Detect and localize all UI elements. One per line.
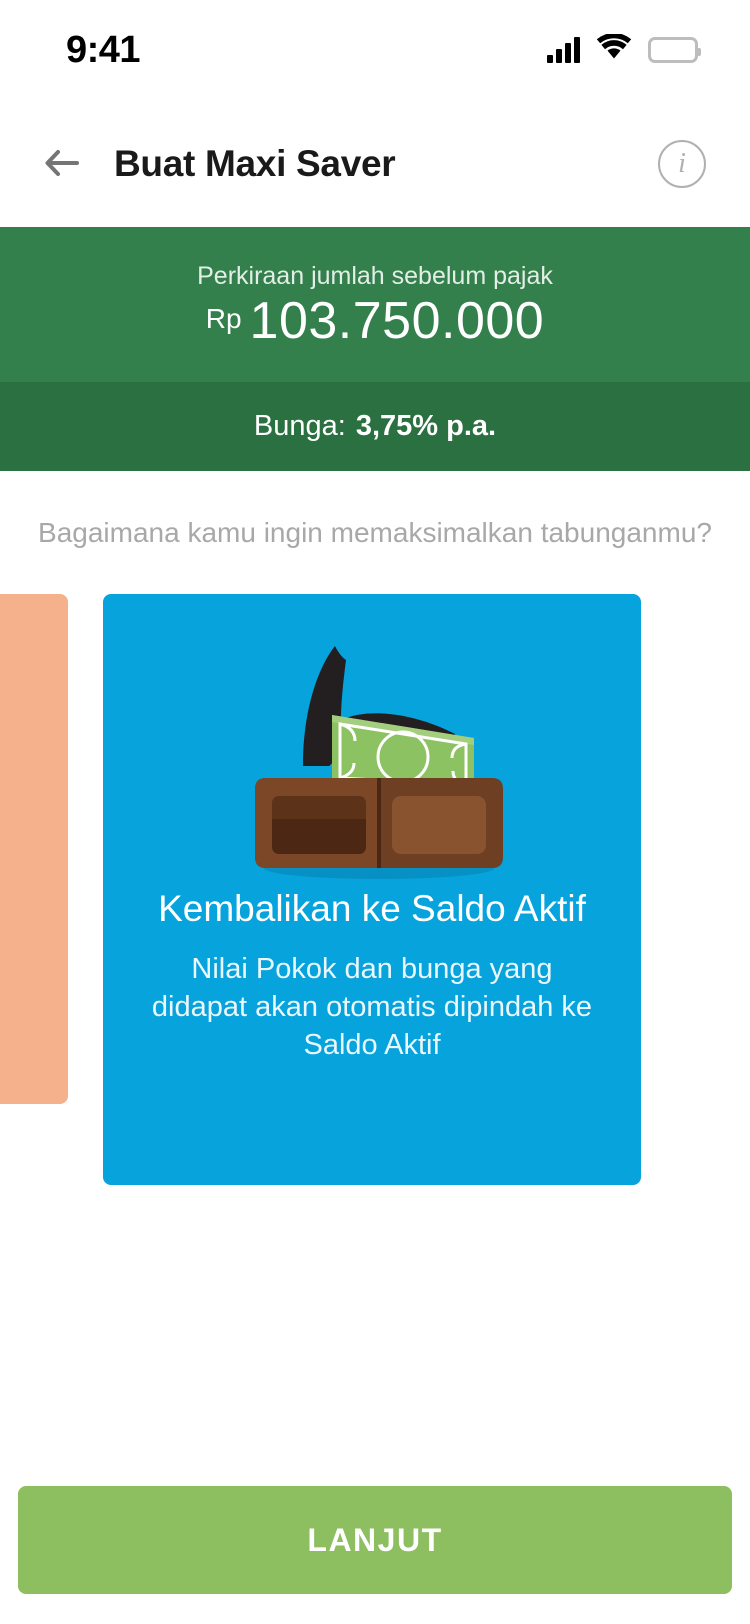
interest-rate-value: 3,75% p.a. — [356, 410, 496, 443]
status-bar: 9:41 — [0, 0, 750, 100]
option-card-title: Kembalikan ke Saldo Aktif — [126, 886, 618, 932]
continue-button[interactable]: LANJUT — [18, 1486, 732, 1594]
summary-label: Perkiraan jumlah sebelum pajak — [197, 262, 553, 291]
info-icon-label: i — [678, 148, 686, 180]
option-card-kembalikan-ke-saldo-aktif[interactable]: Kembalikan ke Saldo Aktif Nilai Pokok da… — [103, 594, 641, 1185]
option-card-previous[interactable] — [0, 594, 68, 1104]
wifi-icon — [596, 34, 632, 66]
app-screen: 9:41 Buat Maxi Saver — [0, 0, 750, 1624]
status-icons — [547, 34, 698, 66]
option-card-description: Nilai Pokok dan bunga yang didapat akan … — [103, 950, 641, 1065]
back-button[interactable] — [38, 137, 92, 191]
info-circle-icon[interactable]: i — [658, 140, 706, 188]
interest-rate-bar: Bunga: 3,75% p.a. — [0, 382, 750, 471]
cta-area: LANJUT — [0, 1486, 750, 1624]
currency-symbol: Rp — [206, 303, 242, 335]
status-time: 9:41 — [66, 29, 140, 72]
cellular-signal-icon — [547, 37, 580, 63]
interest-rate-label: Bunga: — [254, 410, 346, 443]
arrow-left-icon — [44, 149, 86, 179]
summary-panel: Perkiraan jumlah sebelum pajak Rp 103.75… — [0, 227, 750, 471]
wallet-with-cash-illustration — [103, 594, 641, 894]
nav-bar: Buat Maxi Saver i — [0, 100, 750, 227]
question-text: Bagaimana kamu ingin memaksimalkan tabun… — [0, 471, 750, 594]
summary-amount-section: Perkiraan jumlah sebelum pajak Rp 103.75… — [0, 227, 750, 382]
option-carousel[interactable]: Kembalikan ke Saldo Aktif Nilai Pokok da… — [0, 594, 750, 1486]
amount-value: 103.750.000 — [250, 295, 545, 347]
battery-icon — [648, 37, 698, 63]
summary-amount: Rp 103.750.000 — [206, 295, 544, 347]
page-title: Buat Maxi Saver — [114, 143, 658, 185]
